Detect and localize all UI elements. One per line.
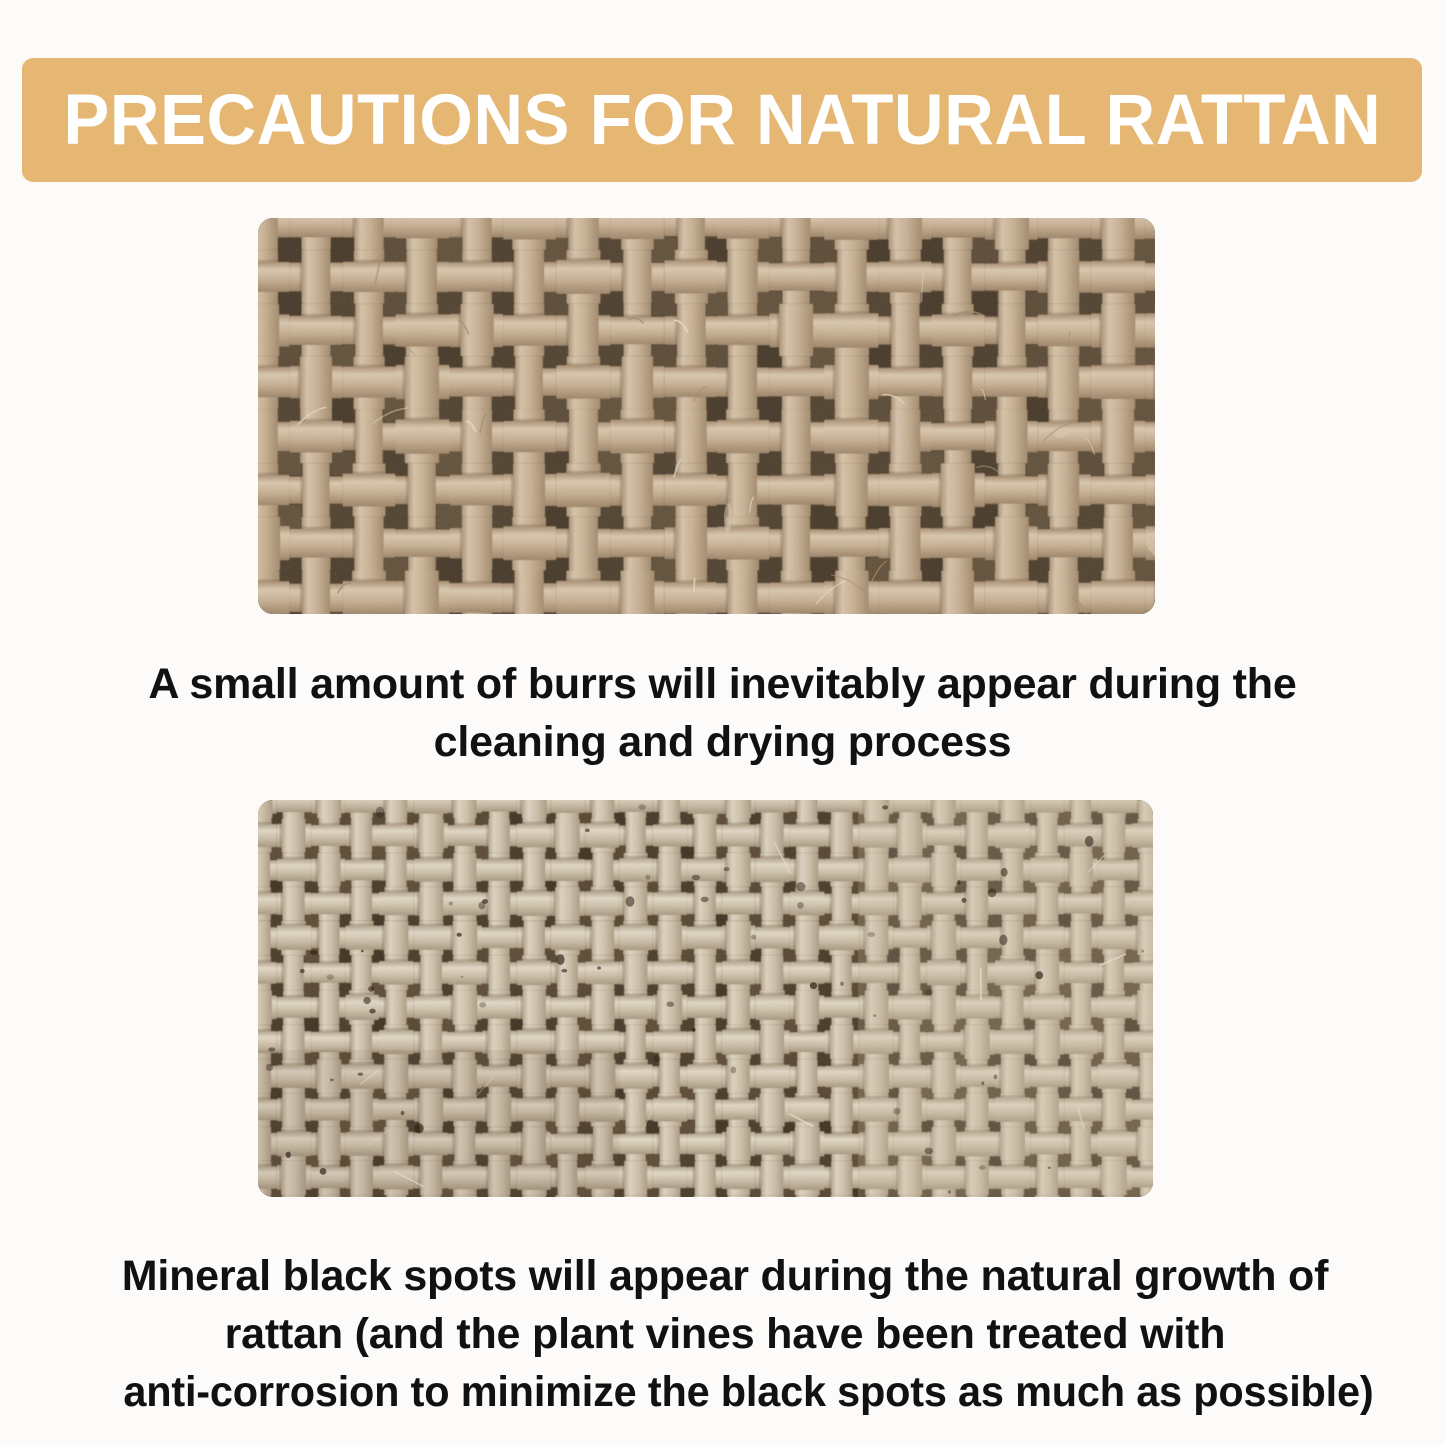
fine-rattan-weave-photo: [258, 800, 1153, 1197]
page-title: PRECAUTIONS FOR NATURAL RATTAN: [57, 85, 1387, 156]
caption-black-spots-line-1: Mineral black spots will appear during t…: [100, 1247, 1350, 1305]
coarse-weave-graphic: [258, 218, 1155, 614]
caption-burrs: A small amount of burrs will inevitably …: [120, 655, 1325, 771]
caption-black-spots: Mineral black spots will appear during t…: [100, 1247, 1350, 1421]
fine-weave-graphic: [258, 800, 1153, 1197]
caption-black-spots-line-2: rattan (and the plant vines have been tr…: [100, 1305, 1350, 1363]
header-banner: PRECAUTIONS FOR NATURAL RATTAN: [22, 58, 1422, 182]
coarse-rattan-weave-photo: [258, 218, 1155, 614]
caption-burrs-line-2: cleaning and drying process: [120, 713, 1325, 771]
caption-black-spots-line-3: anti-corrosion to minimize the black spo…: [123, 1363, 1373, 1421]
caption-burrs-line-1: A small amount of burrs will inevitably …: [120, 655, 1325, 713]
